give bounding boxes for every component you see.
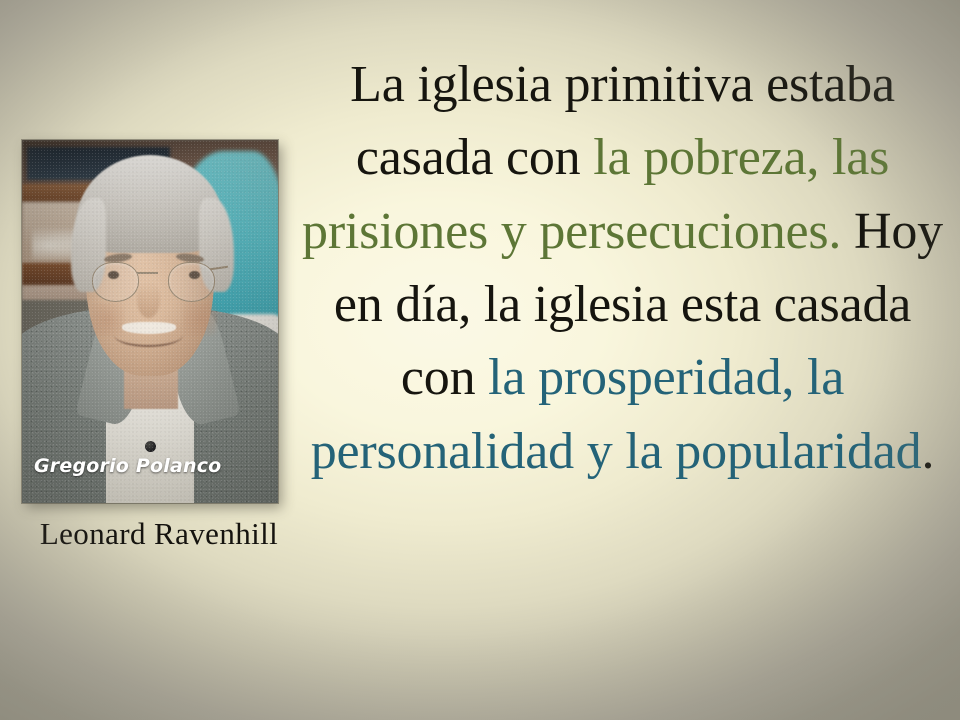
- quote-slide: Gregorio Polanco Leonard Ravenhill La ig…: [0, 0, 960, 720]
- quote-segment-5: .: [921, 423, 934, 480]
- photo-subject-cheek-right: [183, 303, 216, 336]
- photo-subject-eyeglass-bridge: [137, 272, 157, 274]
- portrait-photo: Gregorio Polanco: [22, 140, 278, 503]
- photo-subject-nose: [137, 282, 160, 318]
- quote-text: La iglesia primitiva estaba casada con l…: [300, 48, 945, 488]
- photo-watermark: Gregorio Polanco: [34, 455, 221, 477]
- photo-subject-eyeglass-lens-left: [92, 262, 139, 302]
- portrait-photo-block: Gregorio Polanco: [22, 140, 278, 503]
- portrait-caption: Leonard Ravenhill: [14, 516, 304, 552]
- photo-subject-smile: [114, 323, 183, 347]
